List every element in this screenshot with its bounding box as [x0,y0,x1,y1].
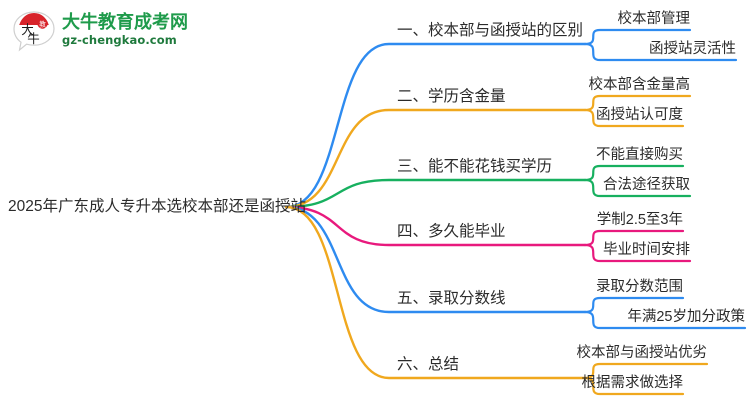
mindmap-branch-label-4: 四、多久能毕业 [397,221,506,243]
mindmap-subnode-label-1-2: 函授站灵活性 [649,39,736,59]
svg-text:牛: 牛 [27,31,40,46]
mindmap-subnode-label-2-1: 校本部含金量高 [589,75,691,95]
mindmap-subnode-label-5-2: 年满25岁加分政策 [627,307,745,327]
mindmap-subnode-label-1-1: 校本部管理 [618,9,691,29]
mindmap-branch-label-6: 六、总结 [397,354,459,376]
daniu-speech-bubble-logo-icon: 教 大 牛 [12,10,56,52]
mindmap-root-label: 2025年广东成人专升本选校本部还是函授站 [8,196,306,218]
mindmap-branch-label-5: 五、录取分数线 [397,288,506,310]
mindmap-branch-label-3: 三、能不能花钱买学历 [397,156,552,178]
mindmap-subnode-label-6-2: 根据需求做选择 [582,373,684,393]
site-logo: 教 大 牛 大牛教育成考网 gz-chengkao.com [12,8,187,56]
mindmap-subnode-label-3-1: 不能直接购买 [596,145,683,165]
mindmap-branch-label-2: 二、学历含金量 [397,86,506,108]
svg-text:教: 教 [39,20,46,29]
logo-text: 大牛教育成考网 gz-chengkao.com [62,11,190,48]
mindmap-canvas: 教 大 牛 大牛教育成考网 gz-chengkao.com 2025年广东成人专… [0,0,750,410]
mindmap-subnode-label-4-2: 毕业时间安排 [603,240,690,260]
mindmap-subnode-label-4-1: 学制2.5至3年 [597,210,683,230]
mindmap-subnode-label-3-2: 合法途径获取 [603,175,690,195]
mindmap-subnode-label-6-1: 校本部与函授站优劣 [577,343,708,363]
mindmap-subnode-label-2-2: 函授站认可度 [596,105,683,125]
mindmap-branch-label-1: 一、校本部与函授站的区别 [397,20,583,42]
logo-title: 大牛教育成考网 [62,11,190,33]
logo-subtitle: gz-chengkao.com [62,33,190,48]
mindmap-subnode-label-5-1: 录取分数范围 [596,277,683,297]
